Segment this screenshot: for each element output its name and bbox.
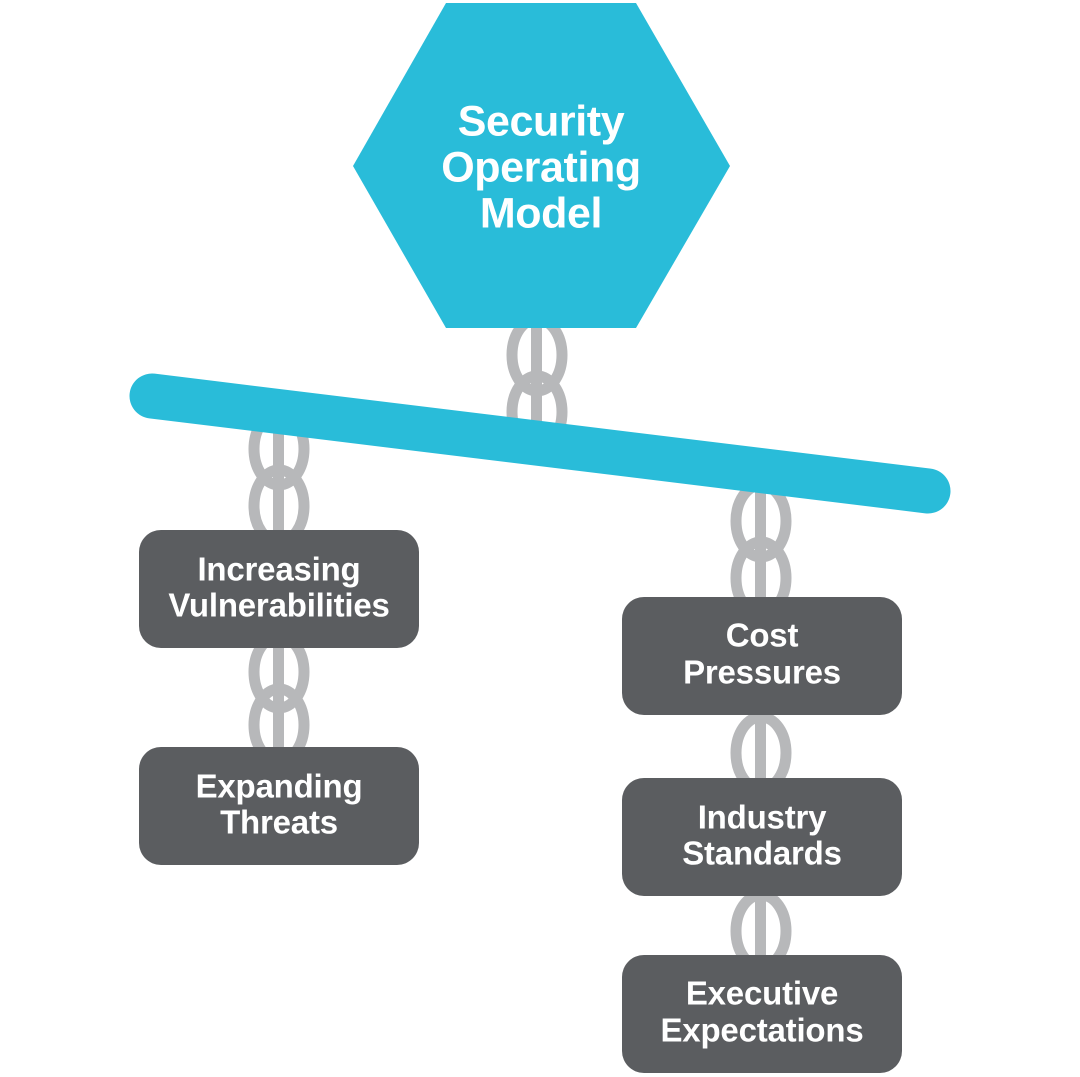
cost-pressures-node[interactable]: Cost Pressures [622,597,902,715]
cost-pressures-label-line-2: Pressures [683,654,841,691]
increasing-vulnerabilities-label-line-2: Vulnerabilities [168,587,389,624]
hexagon-label-line-1: Security [458,97,625,145]
executive-expectations-label-line-2: Expectations [661,1012,864,1049]
chain-increasing-vulnerabilities-to-expanding-threats [254,635,304,761]
cost-pressures-label-line-1: Cost [726,617,799,654]
increasing-vulnerabilities-node[interactable]: Increasing Vulnerabilities [139,530,419,648]
security-operating-model-node[interactable]: Security Operating Model [353,3,730,328]
industry-standards-node[interactable]: Industry Standards [622,778,902,896]
expanding-threats-node[interactable]: Expanding Threats [139,747,419,865]
expanding-threats-label-line-2: Threats [220,804,338,841]
hexagon-label-line-3: Model [480,189,602,237]
expanding-threats-label-line-1: Expanding [196,768,363,805]
executive-expectations-node[interactable]: Executive Expectations [622,955,902,1073]
increasing-vulnerabilities-label-line-1: Increasing [197,551,360,588]
diagram-canvas: Security Operating Model Increasing Vuln… [0,0,1080,1077]
hexagon-label-line-2: Operating [441,143,640,191]
diagram-svg: Security Operating Model Increasing Vuln… [0,0,1080,1077]
industry-standards-label-line-2: Standards [682,835,842,872]
executive-expectations-label-line-1: Executive [686,975,838,1012]
industry-standards-label-line-1: Industry [698,799,827,836]
